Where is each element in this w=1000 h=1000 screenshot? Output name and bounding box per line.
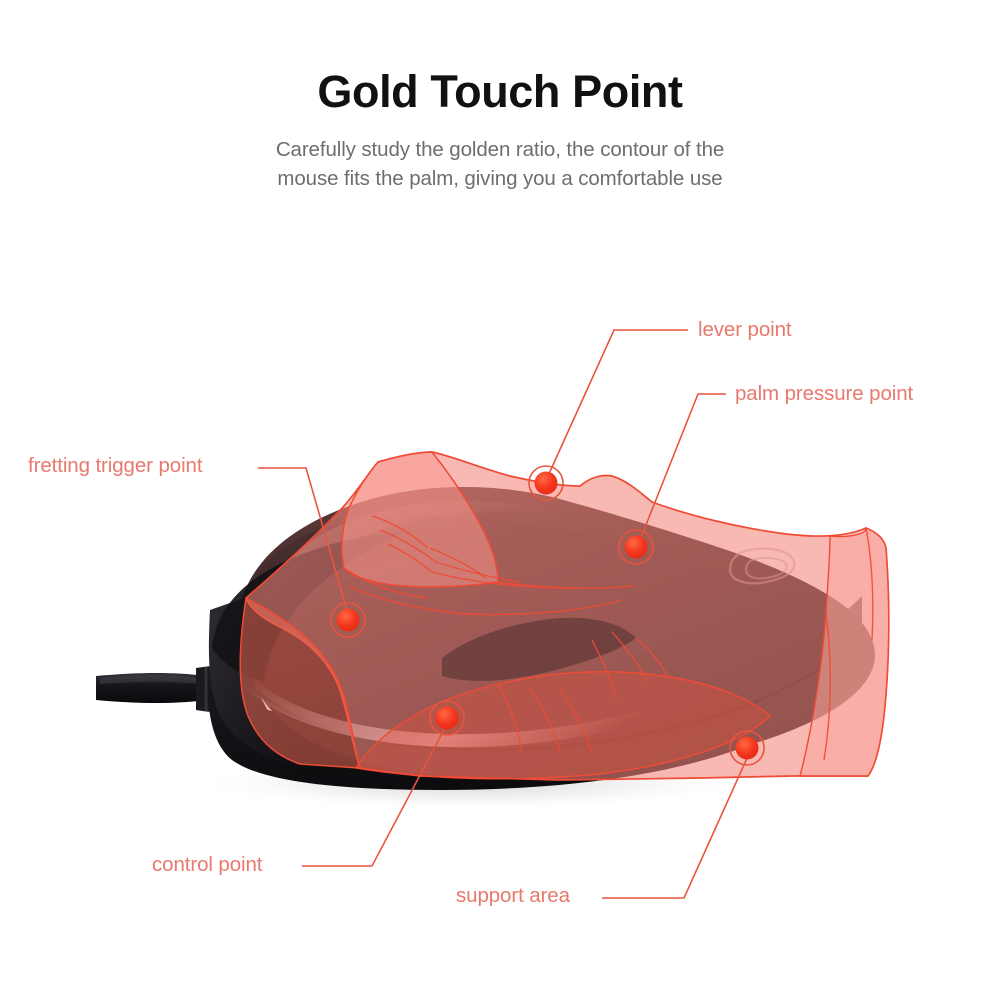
- page-root: Gold Touch Point Carefully study the gol…: [0, 0, 1000, 1000]
- mouse-diagram-svg: [0, 0, 1000, 1000]
- callout-label-support-area[interactable]: support area: [456, 886, 570, 907]
- callout-label-lever-point[interactable]: lever point: [698, 320, 791, 341]
- leader-line-lever-point: [548, 330, 688, 476]
- callout-label-palm-pressure-point[interactable]: palm pressure point: [735, 384, 913, 405]
- callout-label-control-point[interactable]: control point: [152, 855, 262, 876]
- callout-label-fretting-trigger-point[interactable]: fretting trigger point: [28, 456, 202, 477]
- product-illustration: [0, 0, 1000, 1000]
